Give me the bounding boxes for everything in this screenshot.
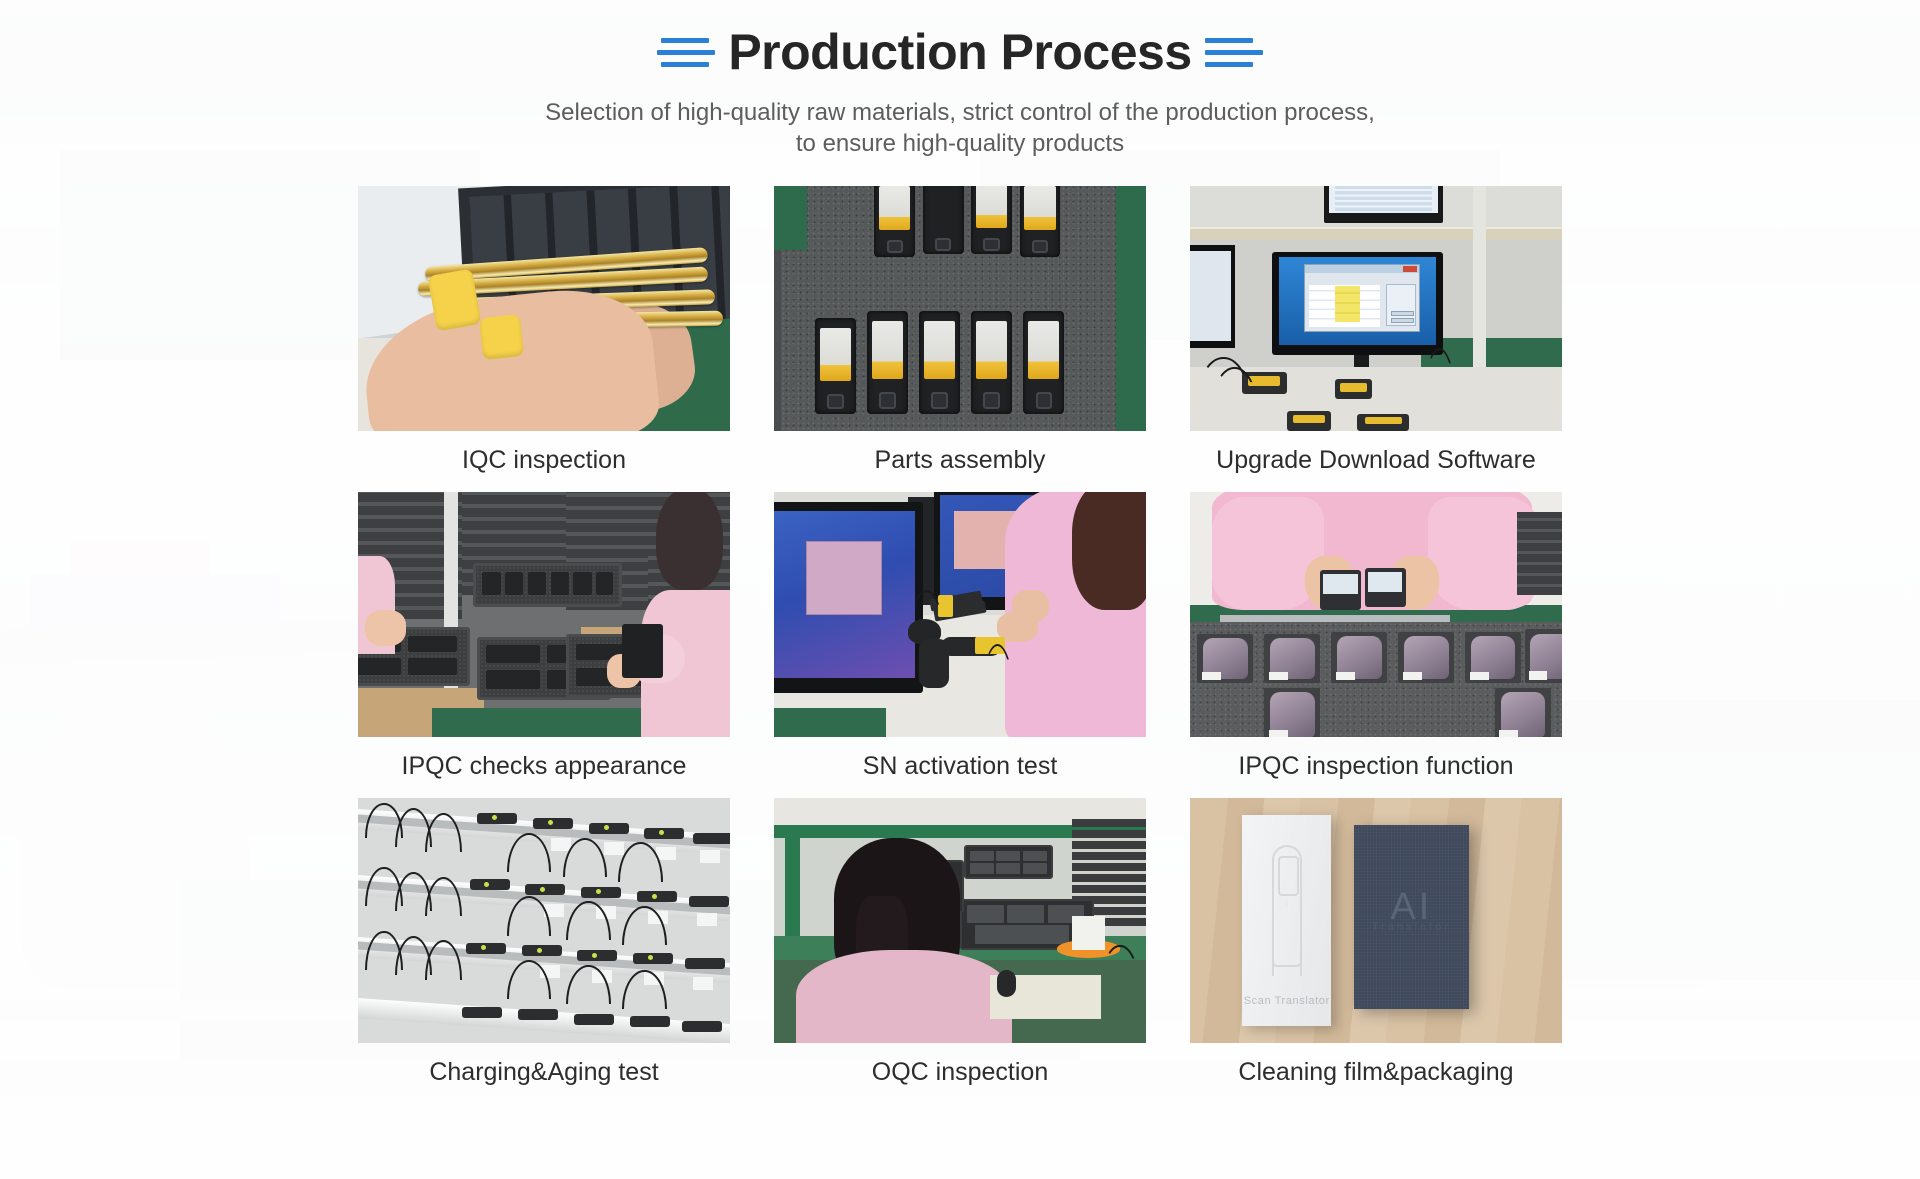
page-header: Production Process Selection of high-qua… xyxy=(0,0,1920,160)
pen-outline-icon xyxy=(1272,845,1302,967)
process-step-card: Parts assembly xyxy=(774,186,1146,476)
subtitle-line-2: to ensure high-quality products xyxy=(0,128,1920,160)
process-step-caption: SN activation test xyxy=(774,751,1146,782)
white-box-label: Scan Translator xyxy=(1242,995,1331,1007)
three-bars-icon-left xyxy=(657,38,715,67)
title-row: Production Process xyxy=(0,26,1920,79)
dark-box-sublabel: Translator xyxy=(1354,921,1469,933)
process-step-card: OQC inspection xyxy=(774,798,1146,1088)
process-step-card: SN activation test xyxy=(774,492,1146,782)
page-title: Production Process xyxy=(728,26,1191,79)
process-step-card: IQC inspection xyxy=(358,186,730,476)
process-step-photo-charging-aging-test xyxy=(358,798,730,1043)
process-step-card: Upgrade Download Software xyxy=(1190,186,1562,476)
process-step-card: Scan Translator AI Translator Cleaning f… xyxy=(1190,798,1562,1088)
process-step-photo-iqc-inspection xyxy=(358,186,730,431)
process-step-photo-ipqc-checks-appearance xyxy=(358,492,730,737)
process-step-photo-parts-assembly xyxy=(774,186,1146,431)
page-subtitle: Selection of high-quality raw materials,… xyxy=(0,97,1920,160)
process-step-caption: Charging&Aging test xyxy=(358,1057,730,1088)
white-retail-box: Scan Translator xyxy=(1242,815,1331,1026)
process-step-caption: IPQC checks appearance xyxy=(358,751,730,782)
three-bars-icon-right xyxy=(1205,38,1263,67)
process-step-card: Charging&Aging test xyxy=(358,798,730,1088)
process-step-card: IPQC inspection function xyxy=(1190,492,1562,782)
process-step-grid: IQC inspection xyxy=(355,186,1565,1089)
process-step-photo-oqc-inspection xyxy=(774,798,1146,1043)
process-step-photo-ipqc-inspection-function xyxy=(1190,492,1562,737)
process-step-caption: IQC inspection xyxy=(358,445,730,476)
process-step-photo-sn-activation-test xyxy=(774,492,1146,737)
dark-retail-box: AI Translator xyxy=(1354,825,1469,1009)
production-process-page: Production Process Selection of high-qua… xyxy=(0,0,1920,1179)
process-step-caption: Parts assembly xyxy=(774,445,1146,476)
process-step-caption: IPQC inspection function xyxy=(1190,751,1562,782)
process-step-photo-upgrade-download-software xyxy=(1190,186,1562,431)
subtitle-line-1: Selection of high-quality raw materials,… xyxy=(545,99,1375,126)
process-step-photo-cleaning-film-packaging: Scan Translator AI Translator xyxy=(1190,798,1562,1043)
process-step-caption: Cleaning film&packaging xyxy=(1190,1057,1562,1088)
process-step-card: IPQC checks appearance xyxy=(358,492,730,782)
process-step-caption: Upgrade Download Software xyxy=(1190,445,1562,476)
process-step-caption: OQC inspection xyxy=(774,1057,1146,1088)
